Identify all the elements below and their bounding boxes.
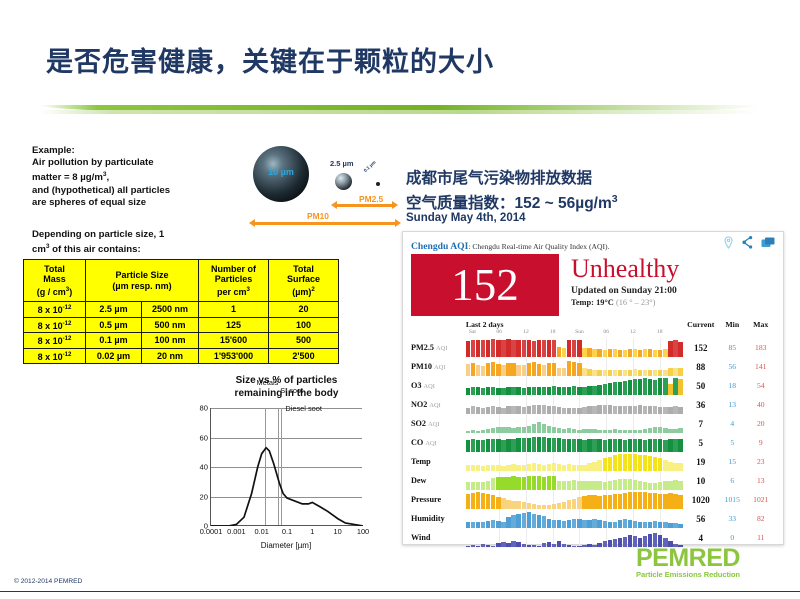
aqi-spark-bar [597,496,601,509]
aqi-row-max: 40 [747,395,776,414]
aqi-spark-bar [597,385,601,395]
aqi-spark-bar [532,463,536,471]
aqi-spark-bar [613,494,617,509]
aqi-spark-bar [567,361,571,376]
aqi-spark-bar [557,368,561,376]
aqi-spark-bar [527,476,531,490]
aqi-spark-bar [491,339,495,357]
aqi-spark-bar [603,405,607,414]
aqi-spark-bar [673,494,677,509]
aqi-spark-bar [597,460,601,471]
aqi-spark-bar [552,476,556,490]
aqi-spark-bar [582,368,586,376]
aqi-spark-bar [522,365,526,376]
aqi-spark-bar [628,492,632,509]
aqi-spark-bar [678,342,682,357]
aqi-table-row[interactable]: CO AQI559 [411,433,775,452]
pemred-logo-tagline: Particle Emissions Reduction [636,570,740,579]
header-number-particles: Number ofParticlesper cm3 [199,260,269,302]
aqi-spark-bar [572,386,576,395]
aqi-spark-bar [638,379,642,395]
aqi-spark-bar [491,478,495,490]
aqi-row-label: CO AQI [411,433,466,452]
aqi-spark-bar [506,543,510,547]
aqi-spark-bar [603,521,607,528]
aqi-summary-text: Unhealthy Updated on Sunday 21:00 Temp: … [559,254,679,307]
aqi-spark-bar [577,439,581,452]
aqi-row-sparkline [466,433,684,452]
aqi-spark-bar [592,519,596,528]
aqi-spark-bar [537,405,541,415]
aqi-table-row[interactable]: NO2 AQI361340 [411,395,775,414]
aqi-table-row[interactable]: Humidity563382 [411,509,775,528]
aqi-row-current: 56 [683,509,718,528]
aqi-spark-bar [618,494,622,509]
aqi-time-ticks: Sat061218Sun061218 [466,329,684,338]
aqi-table-row[interactable]: PM10 AQI8856141 [411,357,775,376]
aqi-row-sparkline [466,490,684,509]
aqi-spark-bar [506,517,510,528]
aqi-tick-label: 18 [550,329,556,335]
aqi-spark-bar [491,439,495,452]
aqi-row-sparkline [466,338,684,357]
aqi-spark-bar [471,482,475,490]
aqi-spark-bar [673,439,677,452]
aqi-spark-bar [471,545,475,547]
sphere-25um-label: 2.5 µm [330,159,354,168]
aqi-spark-bar [608,405,612,414]
table-cell: 8 x 10-12 [24,302,86,318]
aqi-spark-bar [567,439,571,452]
aqi-table-row[interactable]: Pressure102010151021 [411,490,775,509]
aqi-spark-bar [562,368,566,376]
aqi-spark-bar [582,545,586,547]
aqi-spark-bar [522,502,526,509]
aqi-spark-bar [582,387,586,395]
aqi-spark-bar [567,464,571,471]
aqi-spark-bar [547,406,551,414]
aqi-spark-bar [633,369,637,376]
aqi-spark-bar [511,439,515,452]
aqi-spark-bar [623,519,627,528]
table-cell: 500 [269,333,339,349]
depending-line: cm3 of this air contains: [32,241,222,256]
aqi-spark-bar [527,363,531,376]
aqi-spark-bar [557,541,561,547]
aqi-spark-bar [542,365,546,376]
aqi-spark-bar [466,494,470,509]
aqi-spark-bar [537,546,541,547]
aqi-spark-bar [511,387,515,395]
aqi-rows-table: PM2.5 AQI15285183PM10 AQI8856141O3 AQI50… [411,338,775,547]
page-title: 是否危害健康，关键在于颗粒的大小 [46,40,494,79]
aqi-spark-bar [658,439,662,452]
table-cell: 8 x 10-12 [24,317,86,333]
aqi-spark-bar [511,476,515,490]
aqi-summary: 152 Unhealthy Updated on Sunday 21:00 Te… [403,252,783,320]
pm25-arrow-label: PM2.5 [359,194,383,204]
aqi-spark-bar [522,513,526,528]
aqi-spark-bar [486,545,490,547]
aqi-spark-bar [668,384,672,395]
aqi-spark-bar [552,544,556,547]
aqi-spark-bar [643,455,647,471]
table-cell: 8 x 10-12 [24,333,86,349]
table-cell: 100 [269,317,339,333]
aqi-spark-bar [603,384,607,395]
aqi-spark-bar [552,386,556,395]
table-cell: 20 [269,302,339,318]
table-cell: 0.5 µm [86,317,142,333]
aqi-spark-bar [613,480,617,490]
aqi-spark-bar [511,501,515,509]
aqi-spark-bar [638,492,642,509]
aqi-spark-bar [481,482,485,490]
aqi-spark-bar [516,542,520,547]
aqi-widget-title[interactable]: Chengdu AQI [411,241,468,252]
location-pin-icon[interactable] [723,236,734,249]
aqi-spark-bar [608,495,612,509]
aqi-spark-bar [522,438,526,452]
aqi-spark-bar [547,363,551,376]
aqi-spark-bar [663,494,667,509]
aqi-spark-bar [547,542,551,547]
aqi-spark-bar [603,350,607,357]
aqi-spark-bar [613,382,617,395]
aqi-table-row[interactable]: Dew10613 [411,471,775,490]
aqi-spark-bar [673,378,677,395]
chart-ytick-label: 40 [200,463,208,472]
aqi-row-max: 183 [747,338,776,357]
aqi-spark-bar [623,350,627,357]
aqi-table-row[interactable]: PM2.5 AQI15285183 [411,338,775,357]
aqi-spark-bar [623,479,627,490]
aqi-spark-bar [678,481,682,491]
aqi-tick-label: 18 [657,329,663,335]
aqi-row-max: 82 [747,509,776,528]
chart-xtick-label: 1 [310,527,314,536]
aqi-spark-bar [608,349,612,357]
aqi-status-label: Unhealthy [571,255,679,282]
aqi-spark-bar [537,464,541,471]
aqi-spark-bar [471,493,475,509]
aqi-value-box: 152 [411,254,559,316]
aqi-spark-bar [597,405,601,414]
aqi-row-max: 1021 [747,490,776,509]
example-line: are spheres of equal size [32,197,222,209]
aqi-row-min: 33 [718,509,746,528]
aqi-spark-bar [562,544,566,547]
aqi-spark-bar [658,378,662,395]
chengdu-heading: 成都市尾气污染物排放数据 空气质量指数：152 ~ 56µg/m3 [406,168,618,214]
aqi-spark-bar [643,406,647,414]
aqi-row-label: NO2 AQI [411,395,466,414]
aqi-widget-icon-group [723,236,775,249]
chart-plot-area: 0204060800.00010.0010.010.1110100MetalsS… [210,408,362,526]
aqi-spark-bar [562,521,566,528]
aqi-spark-bar [638,481,642,490]
aqi-row-min: 5 [718,433,746,452]
footer-divider [0,591,800,592]
table-row: 8 x 10-120.5 µm500 nm125100 [24,317,339,333]
aqi-spark-bar [592,386,596,396]
table-cell: 1'953'000 [199,348,269,364]
aqi-spark-bar [466,364,470,376]
aqi-spark-bar [628,349,632,357]
aqi-row-label: Wind [411,528,466,547]
aqi-spark-bar [491,520,495,528]
aqi-temp-label: Temp: [571,298,594,307]
aqi-spark-bar [658,407,662,414]
aqi-spark-bar [557,464,561,471]
table-row: 8 x 10-120.1 µm100 nm15'600500 [24,333,339,349]
aqi-row-sparkline [466,357,684,376]
aqi-spark-bar [562,348,566,358]
aqi-spark-bar [577,363,581,376]
aqi-spark-bar [638,350,642,357]
aqi-spark-bar [516,406,520,414]
share-icon[interactable] [742,236,753,249]
aqi-spark-bar [577,340,581,357]
aqi-spark-bar [587,348,591,357]
aqi-table-header-row: Last 2 days Current Min Max [411,320,775,329]
aqi-spark-bar [648,439,652,452]
aqi-tick-label: Sat [469,329,476,335]
aqi-spark-bar [476,387,480,395]
chart-ytick-label: 20 [200,492,208,501]
aqi-row-label: Temp [411,452,466,471]
aqi-spark-bar [673,340,677,357]
aqi-spark-bar [618,350,622,357]
copyright-text: © 2012-2014 PEMRED [14,578,82,585]
aqi-spark-bar [668,481,672,491]
aqi-spark-bar [648,406,652,414]
aqi-spark-bar [542,477,546,490]
slide-date: Sunday May 4th, 2014 [406,212,526,224]
example-line: and (hypothetical) all particles [32,185,222,197]
aqi-spark-bar [618,479,622,490]
chart-ytick-label: 80 [200,404,208,413]
aqi-spark-bar [572,519,576,529]
aqi-spark-bar [501,365,505,376]
aqi-temp-text: Temp: 19°C (16 ° – 23°) [571,298,679,307]
table-cell: 15'600 [199,333,269,349]
aqi-spark-bar [562,387,566,395]
aqi-spark-bar [476,440,480,452]
aqi-spark-bar [653,483,657,490]
chart-xtick-label: 100 [357,527,369,536]
table-cell: 2500 nm [142,302,199,318]
aqi-table-row[interactable]: Temp191523 [411,452,775,471]
aqi-spark-bar [668,462,672,472]
aqi-widget-header: Chengdu AQI: Chengdu Real-time Air Quali… [403,232,783,252]
aqi-temp-value: 19°C [596,298,614,307]
aqi-spark-bar [506,339,510,357]
aqi-spark-bar [552,363,556,376]
chengdu-heading-line1: 成都市尾气污染物排放数据 [406,168,618,189]
aqi-spark-bar [547,476,551,490]
aqi-spark-bar [653,493,657,509]
chart-annotation-label: Metals [257,378,279,387]
aqi-spark-bar [618,454,622,471]
table-cell: 125 [199,317,269,333]
aqi-spark-bar [557,520,561,528]
chart-xtick-label: 0.0001 [200,527,223,536]
aqi-spark-bar [582,481,586,490]
aqi-spark-bar [562,502,566,509]
aqi-spark-bar [481,440,485,452]
header-particle-size: Particle Size(µm resp. nm) [86,260,199,302]
aqi-spark-bar [633,406,637,414]
aqi-spark-bar [501,498,505,509]
aqi-spark-bar [506,477,510,490]
aqi-spark-bar [623,537,627,547]
aqi-row-min: 13 [718,395,746,414]
aqi-spark-bar [496,364,500,376]
aqi-spark-bar [527,340,531,357]
aqi-spark-bar [648,456,652,471]
aqi-spark-bar [471,363,475,376]
aqi-spark-bar [567,481,571,491]
chart-ytick-label: 60 [200,433,208,442]
aqi-spark-bar [496,497,500,509]
aqi-spark-bar [668,439,672,452]
aqi-spark-bar [628,380,632,395]
aqi-spark-bar [506,406,510,414]
table-row: 8 x 10-120.02 µm20 nm1'953'0002'500 [24,348,339,364]
aqi-spark-bar [633,492,637,509]
aqi-spark-bar [501,340,505,357]
aqi-spark-bar [643,440,647,452]
aqi-spark-bar [567,387,571,395]
aqi-spark-bar [613,406,617,414]
aqi-spark-bar [532,424,536,433]
aqi-spark-bar [491,362,495,376]
aqi-table-row[interactable]: SO2 AQI7420 [411,414,775,433]
aqi-spark-bar [678,439,682,452]
aqi-row-min: 6 [718,471,746,490]
table-cell: 0.02 µm [86,348,142,364]
aqi-spark-bar [557,347,561,357]
aqi-spark-bar [582,407,586,414]
chart-xtick-label: 0.1 [282,527,292,536]
aqi-row-min: 56 [718,357,746,376]
aqi-spark-bar [466,546,470,547]
sphere-01um-icon [376,182,380,186]
depending-text-block: Depending on particle size, 1 cm3 of thi… [32,229,222,257]
aqi-row-sparkline [466,471,684,490]
aqi-spark-bar [567,520,571,528]
aqi-spark-bar [587,439,591,452]
aqi-spark-bar [628,439,632,452]
aqi-spark-bar [496,388,500,395]
aqi-row-current: 5 [683,433,718,452]
aqi-spark-bar [678,368,682,376]
aqi-spark-bar [527,426,531,433]
chart-annotation-label: SI soot [280,386,303,395]
aqi-spark-bar [628,406,632,414]
aqi-spark-bar [587,369,591,376]
aqi-tick-label: 12 [630,329,636,335]
aqi-table-row[interactable]: O3 AQI501854 [411,376,775,395]
aqi-last2days-label: Last 2 days [466,320,684,329]
aqi-spark-bar [501,440,505,452]
aqi-spark-bar [618,520,622,528]
aqi-spark-bar [643,492,647,509]
aqi-spark-bar [613,539,617,547]
aqi-spark-bar [623,454,627,471]
aqi-spark-bar [476,340,480,357]
aqi-spark-bar [592,481,596,490]
aqi-col-min: Min [718,320,746,329]
aqi-spark-bar [506,363,510,376]
aqi-widget: Chengdu AQI: Chengdu Real-time Air Quali… [402,231,784,545]
aqi-spark-bar [663,481,667,490]
aqi-spark-bar [476,482,480,490]
aqi-spark-bar [668,493,672,509]
aqi-spark-bar [587,386,591,395]
aqi-spark-bar [527,387,531,395]
window-icon[interactable] [761,237,775,248]
aqi-row-label: SO2 AQI [411,414,466,433]
aqi-row-min: 85 [718,338,746,357]
pm10-arrow-label: PM10 [307,211,329,221]
aqi-spark-bar [486,481,490,490]
aqi-spark-bar [552,340,556,357]
aqi-spark-bar [618,406,622,414]
aqi-row-label: Dew [411,471,466,490]
aqi-spark-bar [471,406,475,414]
aqi-spark-bar [608,457,612,471]
aqi-spark-bar [582,496,586,509]
aqi-spark-bar [527,512,531,528]
aqi-spark-bar [628,479,632,490]
aqi-spark-bar [552,438,556,452]
aqi-spark-bar [501,388,505,395]
table-cell: 2.5 µm [86,302,142,318]
aqi-spark-bar [603,482,607,490]
aqi-spark-bar [572,499,576,509]
aqi-spark-bar [516,438,520,452]
aqi-spark-bar [557,387,561,395]
aqi-tick-label: Sun [575,329,584,335]
aqi-spark-bar [618,538,622,547]
aqi-spark-bar [663,440,667,452]
aqi-temp-range: (16 ° – 23°) [616,298,656,307]
aqi-spark-bar [511,340,515,357]
aqi-spark-bar [567,545,571,547]
aqi-spark-bar [587,463,591,471]
aqi-row-current: 88 [683,357,718,376]
aqi-spark-bar [542,424,546,433]
aqi-spark-bar [527,464,531,471]
sphere-25um-icon [335,173,352,190]
aqi-spark-bar [673,480,677,490]
aqi-spark-bar [643,378,647,395]
aqi-spark-bar [633,521,637,528]
aqi-spark-bar [562,481,566,490]
chart-curve [211,408,363,526]
aqi-spark-bar [592,462,596,471]
aqi-row-label: PM10 AQI [411,357,466,376]
chart-xtick-label: 10 [334,527,342,536]
aqi-col-current: Current [683,320,718,329]
aqi-spark-bar [557,438,561,452]
aqi-spark-bar [597,349,601,357]
aqi-spark-bar [532,476,536,490]
aqi-spark-bar [532,514,536,528]
table-cell: 1 [199,302,269,318]
